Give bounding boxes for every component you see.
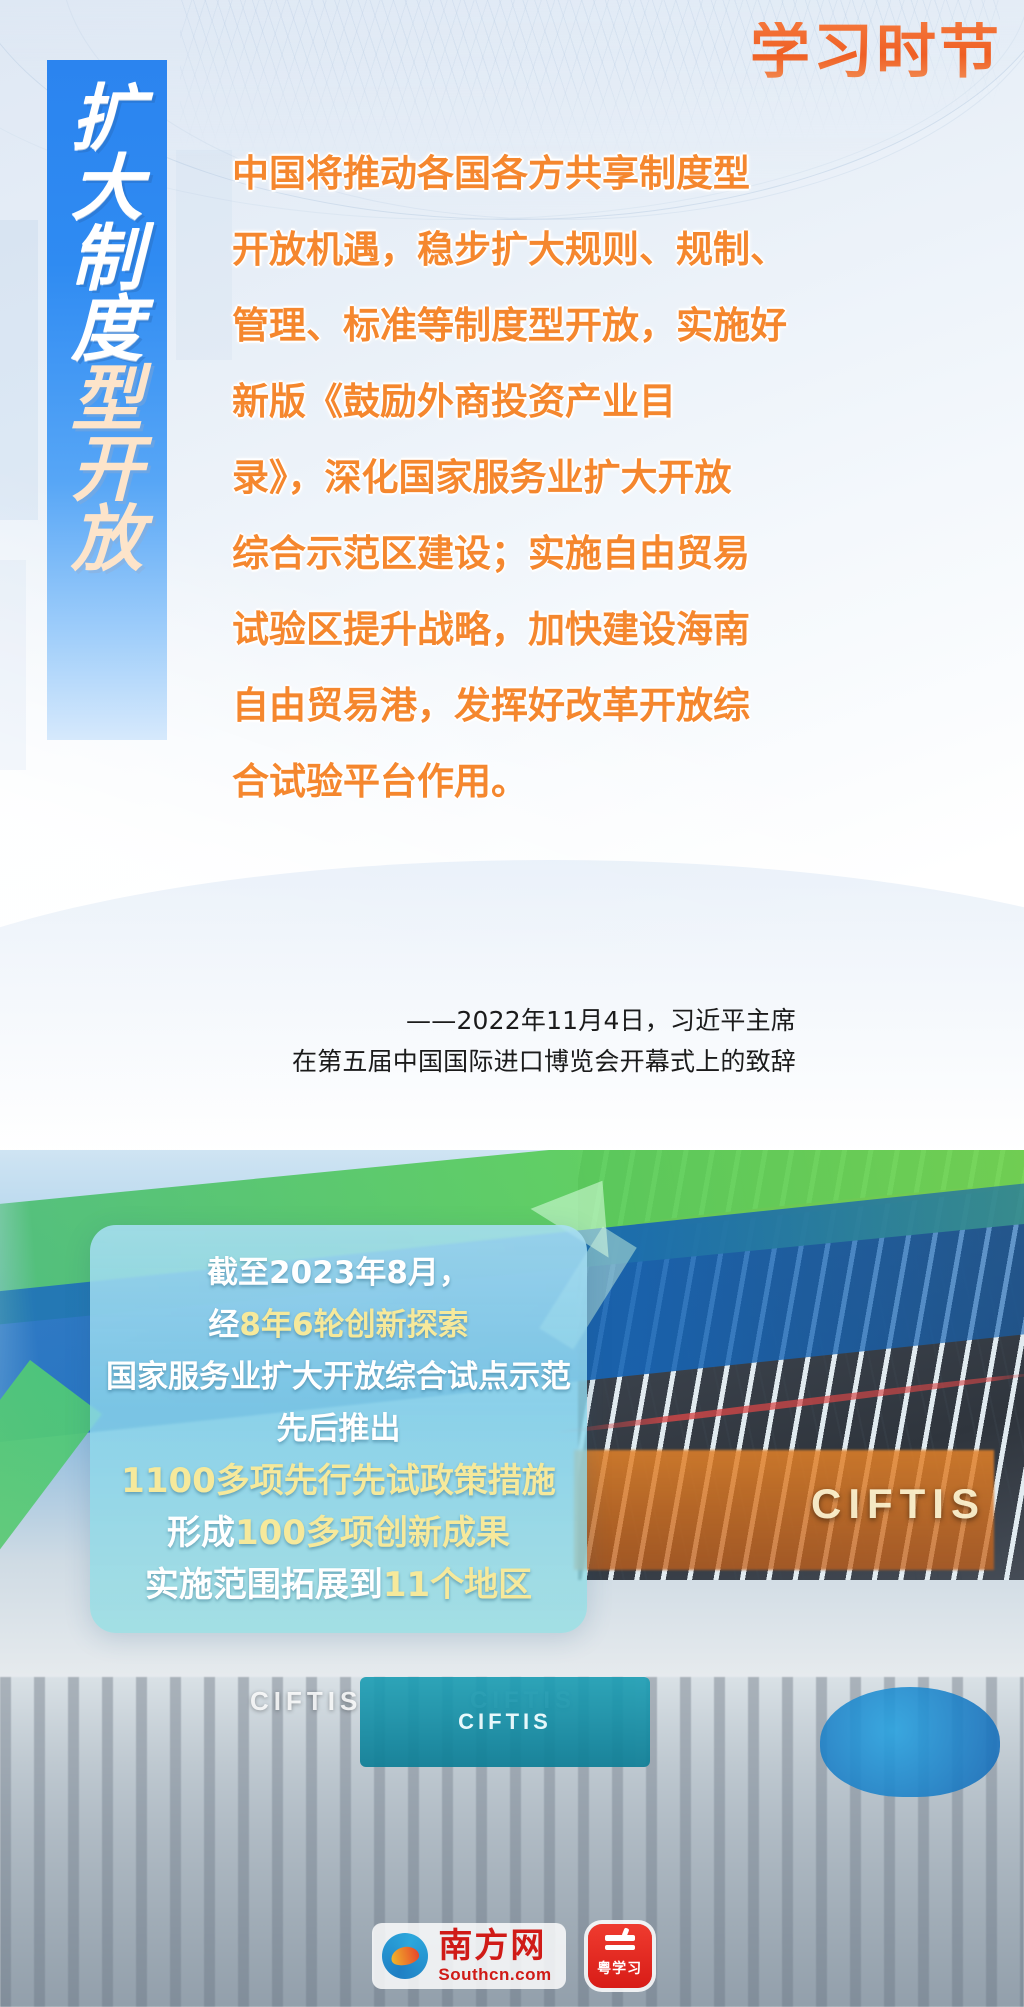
quote-line: 综合示范区建设；实施自由贸易 [232, 516, 788, 592]
card-text: 截至2023年8月， [207, 1255, 470, 1291]
teal-booth: CIFTIS [360, 1677, 650, 1767]
southcn-logo[interactable]: 南方网 Southcn.com [372, 1923, 565, 1989]
blue-booth-banner [820, 1687, 1000, 1797]
southcn-wordmark: 南方网 Southcn.com [438, 1929, 551, 1983]
program-logo: 学习时节 [750, 22, 1002, 82]
vertical-title-char-2: 制 [71, 225, 143, 291]
card-text: 国家服务业扩大开放综合试点示范 [106, 1359, 571, 1395]
attribution-date: ——2022年11月4日，习近平主席 [200, 1000, 796, 1041]
southcn-logo-cn: 南方网 [438, 1929, 551, 1963]
quote-line: 录》，深化国家服务业扩大开放 [232, 440, 788, 516]
poster-root: 学习时节 扩 大 制 度 型 开 放 中国将推动各国各方共享制度型 开放机遇，稳… [0, 0, 1024, 2007]
booth-label: CIFTIS [360, 1677, 650, 1767]
decor-block-mid [176, 150, 232, 360]
quote-line: 自由贸易港，发挥好改革开放综 [232, 668, 788, 744]
card-highlight: 年 [261, 1307, 292, 1343]
vertical-title: 扩 大 制 度 型 开 放 [47, 85, 167, 745]
quote-line: 中国将推动各国各方共享制度型 [232, 136, 788, 212]
quote-line: 合试验平台作用。 [232, 744, 788, 820]
card-highlight: 6轮创新探索 [292, 1307, 469, 1343]
decor-block-left-2 [0, 560, 26, 770]
quote-line: 新版《鼓励外商投资产业目 [232, 364, 788, 440]
yue-book-icon [605, 1935, 635, 1955]
ciftis-signage-left: CIFTIS [250, 1686, 362, 1717]
quote-line: 开放机遇，稳步扩大规则、规制、 [232, 212, 788, 288]
card-text: 先后推出 [277, 1411, 401, 1447]
vertical-title-char-5: 开 [71, 436, 143, 502]
card-line-0: 截至2023年8月， [207, 1248, 470, 1298]
card-highlight: 8 [239, 1307, 261, 1343]
card-line-3: 先后推出 [277, 1404, 401, 1454]
quote-block: 中国将推动各国各方共享制度型 开放机遇，稳步扩大规则、规制、 管理、标准等制度型… [232, 136, 788, 820]
card-highlight: 11个地区 [383, 1565, 532, 1605]
card-line-5: 形成100多项创新成果 [167, 1508, 510, 1558]
quote-line: 管理、标准等制度型开放，实施好 [232, 288, 788, 364]
southcn-logo-en: Southcn.com [438, 1966, 551, 1983]
yuexuexi-app-logo[interactable]: 粤学习 [588, 1924, 652, 1988]
yuexuexi-label: 粤学习 [597, 1958, 642, 1978]
card-text: 实施范围拓展到 [145, 1565, 383, 1605]
card-line-6: 实施范围拓展到11个地区 [145, 1560, 532, 1610]
card-text: 形成 [167, 1513, 235, 1553]
attribution-source: 在第五届中国国际进口博览会开幕式上的致辞 [200, 1041, 796, 1082]
footer-logos: 南方网 Southcn.com 粤学习 [0, 1923, 1024, 1989]
decor-block-left-1 [0, 220, 38, 520]
vertical-title-char-3: 度 [71, 296, 143, 362]
quote-line: 试验区提升战略，加快建设海南 [232, 592, 788, 668]
vertical-title-char-0: 扩 [71, 85, 143, 151]
vertical-title-char-1: 大 [71, 155, 143, 221]
vertical-title-char-4: 型 [71, 366, 143, 432]
vertical-title-char-6: 放 [71, 506, 143, 572]
card-line-4: 1100多项先行先试政策措施 [121, 1456, 556, 1506]
card-line-1: 经8年6轮创新探索 [208, 1300, 468, 1350]
card-highlight: 1100多项先行先试政策措施 [121, 1461, 556, 1501]
card-text: 经 [208, 1307, 239, 1343]
card-line-2: 国家服务业扩大开放综合试点示范 [106, 1352, 571, 1402]
ciftis-signage-right: CIFTIS [811, 1480, 986, 1528]
globe-icon [382, 1933, 428, 1979]
card-highlight: 100多项创新成果 [235, 1513, 510, 1553]
statistics-card: 截至2023年8月， 经8年6轮创新探索 国家服务业扩大开放综合试点示范 先后推… [90, 1225, 587, 1633]
attribution: ——2022年11月4日，习近平主席 在第五届中国国际进口博览会开幕式上的致辞 [200, 1000, 796, 1082]
